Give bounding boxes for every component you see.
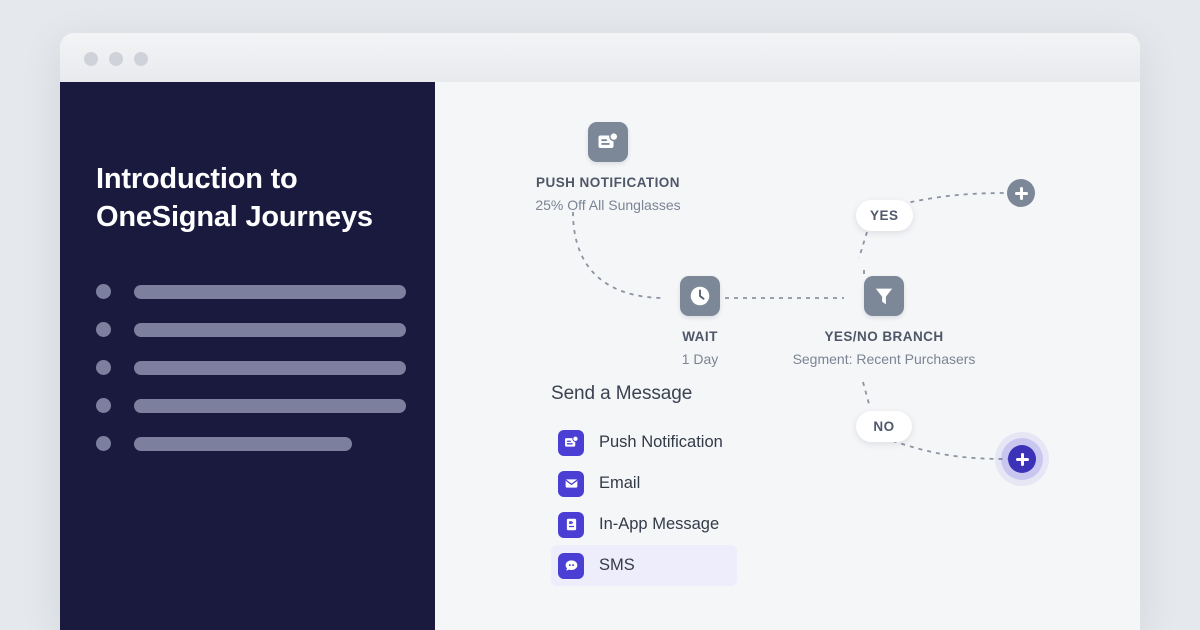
journey-node-yes-no-branch[interactable]: YES/NO BRANCH Segment: Recent Purchasers [754, 276, 1014, 367]
menu-item-label: SMS [599, 556, 635, 575]
bullet-icon [96, 284, 111, 299]
menu-item-push-notification[interactable]: Push Notification [551, 422, 737, 463]
skeleton-bar [134, 323, 406, 337]
node-title: PUSH NOTIFICATION [498, 175, 718, 190]
course-sidebar: Introduction to OneSignal Journeys [60, 82, 435, 630]
window-maximize-button[interactable] [134, 52, 148, 66]
send-a-message-menu: Send a Message Push Notification [551, 383, 751, 586]
list-item [96, 435, 435, 452]
envelope-icon [558, 471, 584, 497]
bullet-icon [96, 398, 111, 413]
skeleton-bar [134, 437, 352, 451]
journey-node-push-notification[interactable]: PUSH NOTIFICATION 25% Off All Sunglasses [498, 122, 718, 213]
window-close-button[interactable] [84, 52, 98, 66]
browser-titlebar [60, 33, 1140, 82]
add-step-button-no[interactable] [1008, 445, 1036, 473]
skeleton-bar [134, 399, 406, 413]
list-item [96, 359, 435, 376]
push-notification-icon [558, 430, 584, 456]
menu-item-label: Push Notification [599, 433, 723, 452]
node-title: YES/NO BRANCH [754, 329, 1014, 344]
node-subtitle: 25% Off All Sunglasses [498, 197, 718, 213]
bullet-icon [96, 360, 111, 375]
journey-canvas: PUSH NOTIFICATION 25% Off All Sunglasses… [435, 82, 1140, 630]
node-subtitle: Segment: Recent Purchasers [754, 351, 1014, 367]
list-item [96, 283, 435, 300]
menu-heading: Send a Message [551, 383, 751, 405]
add-step-button-yes[interactable] [1007, 179, 1035, 207]
menu-item-sms[interactable]: SMS [551, 545, 737, 586]
page-title: Introduction to OneSignal Journeys [96, 160, 406, 236]
window-minimize-button[interactable] [109, 52, 123, 66]
plus-icon [1016, 453, 1029, 466]
sidebar-skeleton-list [96, 283, 435, 452]
branch-label-no: NO [856, 411, 912, 442]
in-app-message-icon [558, 512, 584, 538]
menu-item-email[interactable]: Email [551, 463, 737, 504]
menu-item-in-app-message[interactable]: In-App Message [551, 504, 737, 545]
menu-item-label: In-App Message [599, 515, 719, 534]
menu-item-label: Email [599, 474, 640, 493]
skeleton-bar [134, 285, 406, 299]
skeleton-bar [134, 361, 406, 375]
list-item [96, 321, 435, 338]
bullet-icon [96, 322, 111, 337]
sms-bubble-icon [558, 553, 584, 579]
bullet-icon [96, 436, 111, 451]
funnel-icon [864, 276, 904, 316]
push-notification-icon [588, 122, 628, 162]
plus-icon [1015, 187, 1028, 200]
branch-label-yes: YES [856, 200, 913, 231]
clock-icon [680, 276, 720, 316]
list-item [96, 397, 435, 414]
